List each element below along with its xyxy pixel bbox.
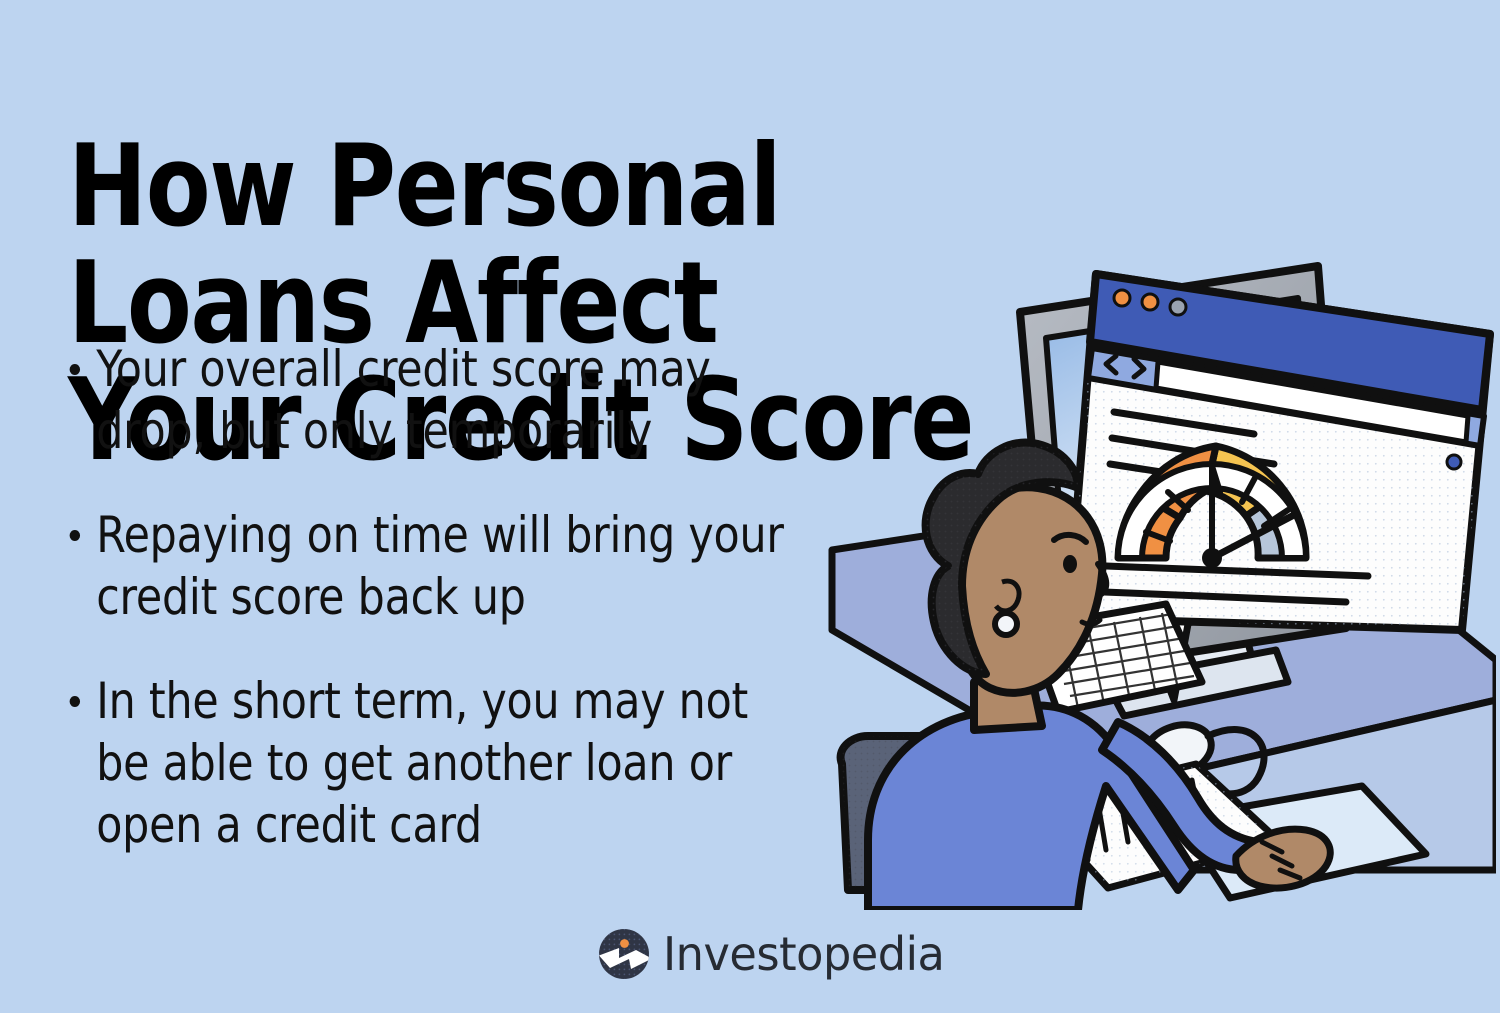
bullet-dot-icon [70,364,80,375]
list-item: Your overall credit score may drop, but … [62,338,784,462]
investopedia-logo-icon [598,928,650,980]
list-item: In the short term, you may not be able t… [62,670,784,856]
bullet-dot-icon [70,530,80,541]
list-item-text: Repaying on time will bring your credit … [96,506,784,626]
infographic-canvas: How Personal Loans Affect Your Credit Sc… [0,0,1500,1013]
illustration-person-at-computer [806,230,1496,910]
investopedia-logo: Investopedia [598,928,953,980]
key-takeaways-list: Your overall credit score may drop, but … [62,338,822,856]
illustration-layers [832,266,1496,910]
list-item-text: Your overall credit score may drop, but … [96,340,710,460]
bullet-dot-icon [70,696,80,707]
investopedia-wordmark: Investopedia [663,931,944,977]
list-item-text: In the short term, you may not be able t… [96,672,748,854]
list-item: Repaying on time will bring your credit … [62,504,784,628]
